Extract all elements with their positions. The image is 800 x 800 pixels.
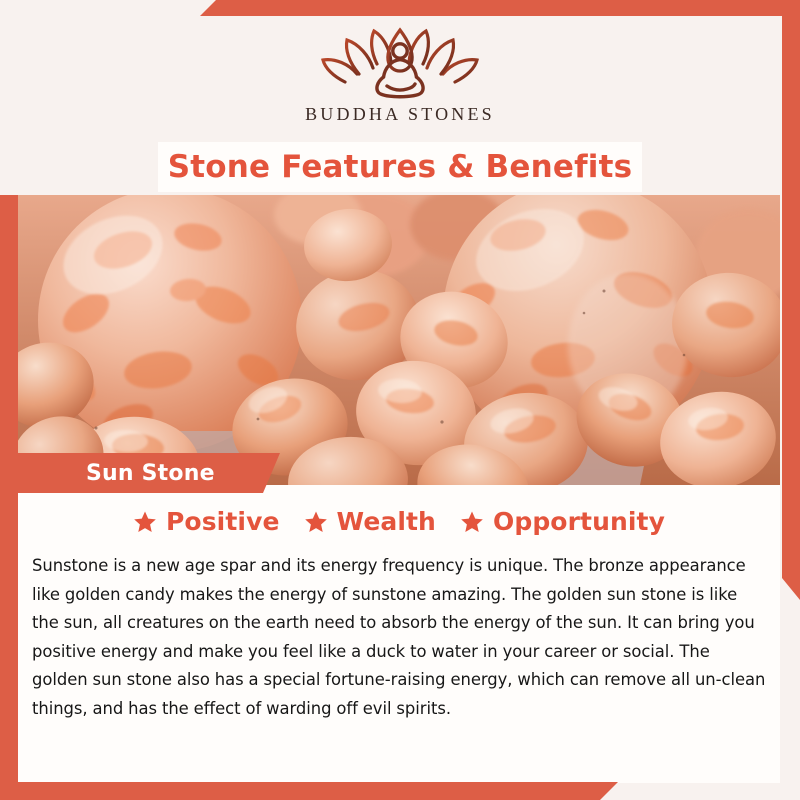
keyword-list: Positive Wealth Opportunity bbox=[18, 507, 780, 536]
keyword-label: Positive bbox=[166, 507, 280, 536]
page-title: Stone Features & Benefits bbox=[168, 149, 633, 185]
brand-name: BUDDHA STONES bbox=[305, 104, 495, 125]
content-panel: Positive Wealth Opportunity Sunstone is … bbox=[18, 485, 780, 783]
stone-name-label: Sun Stone bbox=[86, 461, 215, 486]
stone-description: Sunstone is a new age spar and its energ… bbox=[32, 552, 766, 723]
stone-photo-image bbox=[18, 195, 780, 485]
frame-top-bar bbox=[0, 0, 800, 16]
keyword-item-wealth: Wealth bbox=[304, 507, 436, 536]
star-icon bbox=[133, 510, 157, 534]
title-banner: Stone Features & Benefits bbox=[158, 142, 642, 192]
star-icon bbox=[460, 510, 484, 534]
brand-header: BUDDHA STONES bbox=[0, 16, 800, 142]
stone-photo bbox=[18, 195, 780, 485]
keyword-label: Opportunity bbox=[493, 507, 665, 536]
poster: BUDDHA STONES Stone Features & Benefits bbox=[0, 0, 800, 800]
keyword-item-positive: Positive bbox=[133, 507, 280, 536]
star-icon bbox=[304, 510, 328, 534]
keyword-item-opportunity: Opportunity bbox=[460, 507, 665, 536]
stone-name-tag: Sun Stone bbox=[0, 453, 280, 493]
frame-right-bar bbox=[782, 0, 800, 600]
lotus-meditation-icon bbox=[315, 24, 485, 102]
keyword-label: Wealth bbox=[337, 507, 436, 536]
frame-bottom-bar bbox=[0, 782, 800, 800]
